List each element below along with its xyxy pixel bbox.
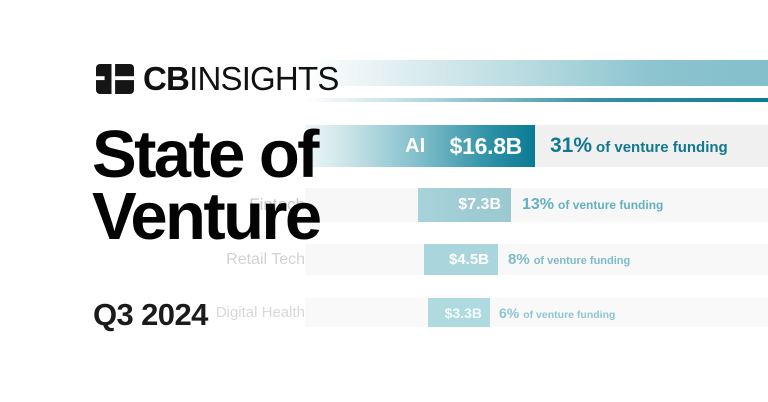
- bar-ai-label: AI: [405, 135, 425, 158]
- logo-wordmark: CBINSIGHTS: [143, 62, 339, 95]
- row-digital-health-percent: 6%: [499, 305, 519, 321]
- page-subtitle: Q3 2024: [93, 297, 208, 333]
- logo-word-insights: INSIGHTS: [189, 60, 338, 97]
- bar-digital-health-value: $3.3B: [445, 305, 482, 321]
- bar-digital-health: $3.3B: [428, 298, 490, 327]
- row-retail-tech-note: 8% of venture funding: [508, 251, 630, 268]
- decorative-gradient-band: [305, 60, 768, 86]
- page-title-line-1: State of: [92, 124, 392, 186]
- bar-retail-tech-value: $4.5B: [449, 251, 489, 268]
- logo-word-cb: CB: [143, 60, 189, 97]
- row-fintech-percent: 13%: [522, 196, 554, 214]
- row-digital-health-note-text: of venture funding: [523, 309, 615, 321]
- row-ai-percent: 31%: [550, 134, 592, 158]
- table-row: Retail Tech $4.5B 8% of venture funding: [305, 244, 768, 275]
- row-digital-health-label: Digital Health: [216, 304, 305, 321]
- decorative-gradient-rule: [305, 98, 768, 102]
- row-retail-tech-percent: 8%: [508, 251, 530, 268]
- bar-ai-value: $16.8B: [450, 133, 522, 160]
- bar-retail-tech: $4.5B: [424, 244, 498, 275]
- table-row: Digital Health $3.3B 6% of venture fundi…: [305, 298, 768, 327]
- row-ai-note-text: of venture funding: [596, 139, 728, 156]
- row-digital-health-note: 6% of venture funding: [499, 305, 615, 321]
- report-cover: CBINSIGHTS AI $16.8B 31% of venture fund…: [0, 0, 768, 402]
- row-retail-tech-note-text: of venture funding: [534, 255, 631, 267]
- bar-fintech-value: $7.3B: [458, 196, 501, 214]
- page-title: State of Venture: [92, 124, 392, 249]
- row-fintech-note: 13% of venture funding: [522, 196, 663, 214]
- row-ai-note: 31% of venture funding: [550, 134, 728, 158]
- bar-fintech: $7.3B: [418, 188, 511, 222]
- cb-insights-grid-icon: [96, 64, 134, 94]
- cb-insights-logo: CBINSIGHTS: [96, 62, 339, 95]
- page-title-line-2: Venture: [92, 186, 392, 248]
- row-fintech-note-text: of venture funding: [558, 198, 663, 212]
